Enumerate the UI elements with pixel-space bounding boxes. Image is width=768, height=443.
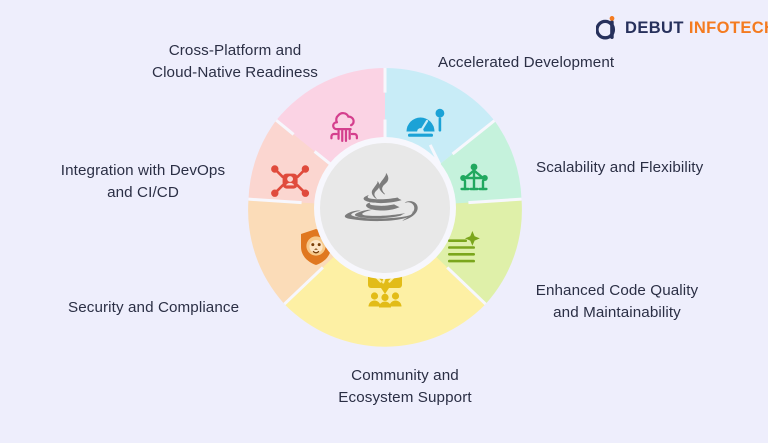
label-code-quality: Enhanced Code Quality and Maintainabilit…: [514, 280, 720, 323]
brand-logo: DEBUTINFOTECH: [596, 14, 768, 42]
puzzle-donut-wheel: [245, 68, 525, 348]
label-cross-platform: Cross-Platform and Cloud-Native Readines…: [127, 40, 343, 83]
label-security: Security and Compliance: [68, 297, 276, 319]
infographic-canvas: DEBUTINFOTECH: [0, 0, 768, 443]
label-accelerated-development: Accelerated Development: [438, 52, 662, 74]
logo-primary-text: DEBUT: [625, 19, 684, 37]
debut-circular-d-mark-icon: [596, 16, 618, 40]
center-hub: [314, 137, 456, 279]
logo-secondary-text: INFOTECH: [689, 19, 768, 37]
label-devops: Integration with DevOps and CI/CD: [40, 160, 246, 203]
label-scalability: Scalability and Flexibility: [536, 157, 750, 179]
logo-wordmark: DEBUTINFOTECH: [625, 20, 768, 37]
label-community: Community and Ecosystem Support: [312, 365, 498, 408]
